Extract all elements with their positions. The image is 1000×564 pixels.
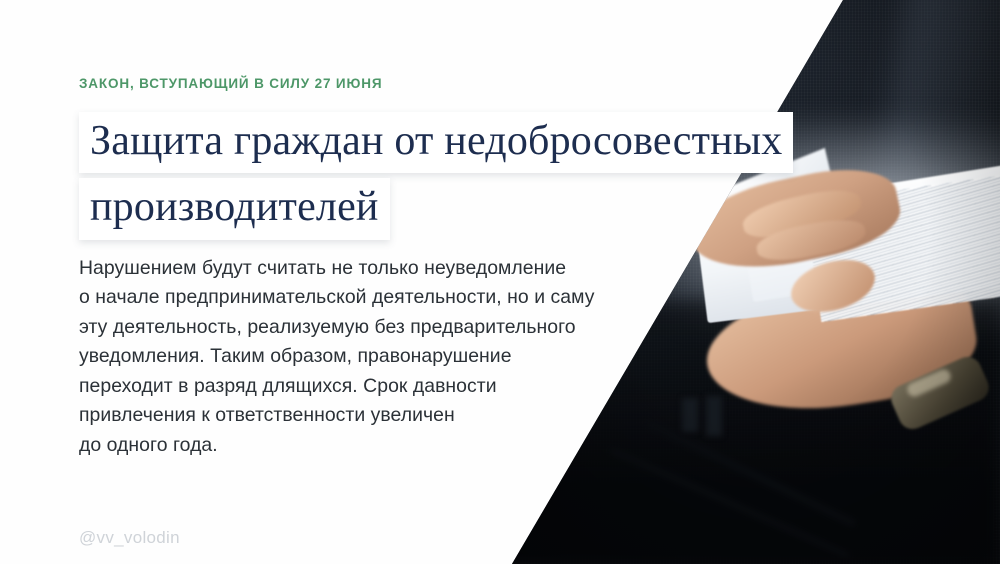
slide-canvas: ЗАКОН, ВСТУПАЮЩИЙ В СИЛУ 27 ИЮНЯ Защита … [0, 0, 1000, 564]
body-line-5: переходит в разряд длящихся. Срок давнос… [79, 372, 679, 401]
page-title: Защита граждан от недобросовестных произ… [79, 112, 939, 240]
body-paragraph: Нарушением будут считать не только неуве… [79, 254, 679, 460]
social-handle: @vv_volodin [79, 528, 180, 548]
body-line-4: уведомления. Таким образом, правонарушен… [79, 342, 679, 371]
headline-line-1: Защита граждан от недобросовестных [79, 112, 793, 173]
body-line-6: привлечения к ответственности увеличен [79, 401, 679, 430]
headline-line-2: производителей [79, 178, 390, 239]
body-line-2: о начале предпринимательской деятельност… [79, 283, 679, 312]
body-line-1: Нарушением будут считать не только неуве… [79, 254, 679, 283]
body-line-7: до одного года. [79, 431, 679, 460]
body-line-3: эту деятельность, реализуемую без предва… [79, 313, 679, 342]
eyebrow-label: ЗАКОН, ВСТУПАЮЩИЙ В СИЛУ 27 ИЮНЯ [79, 76, 382, 91]
